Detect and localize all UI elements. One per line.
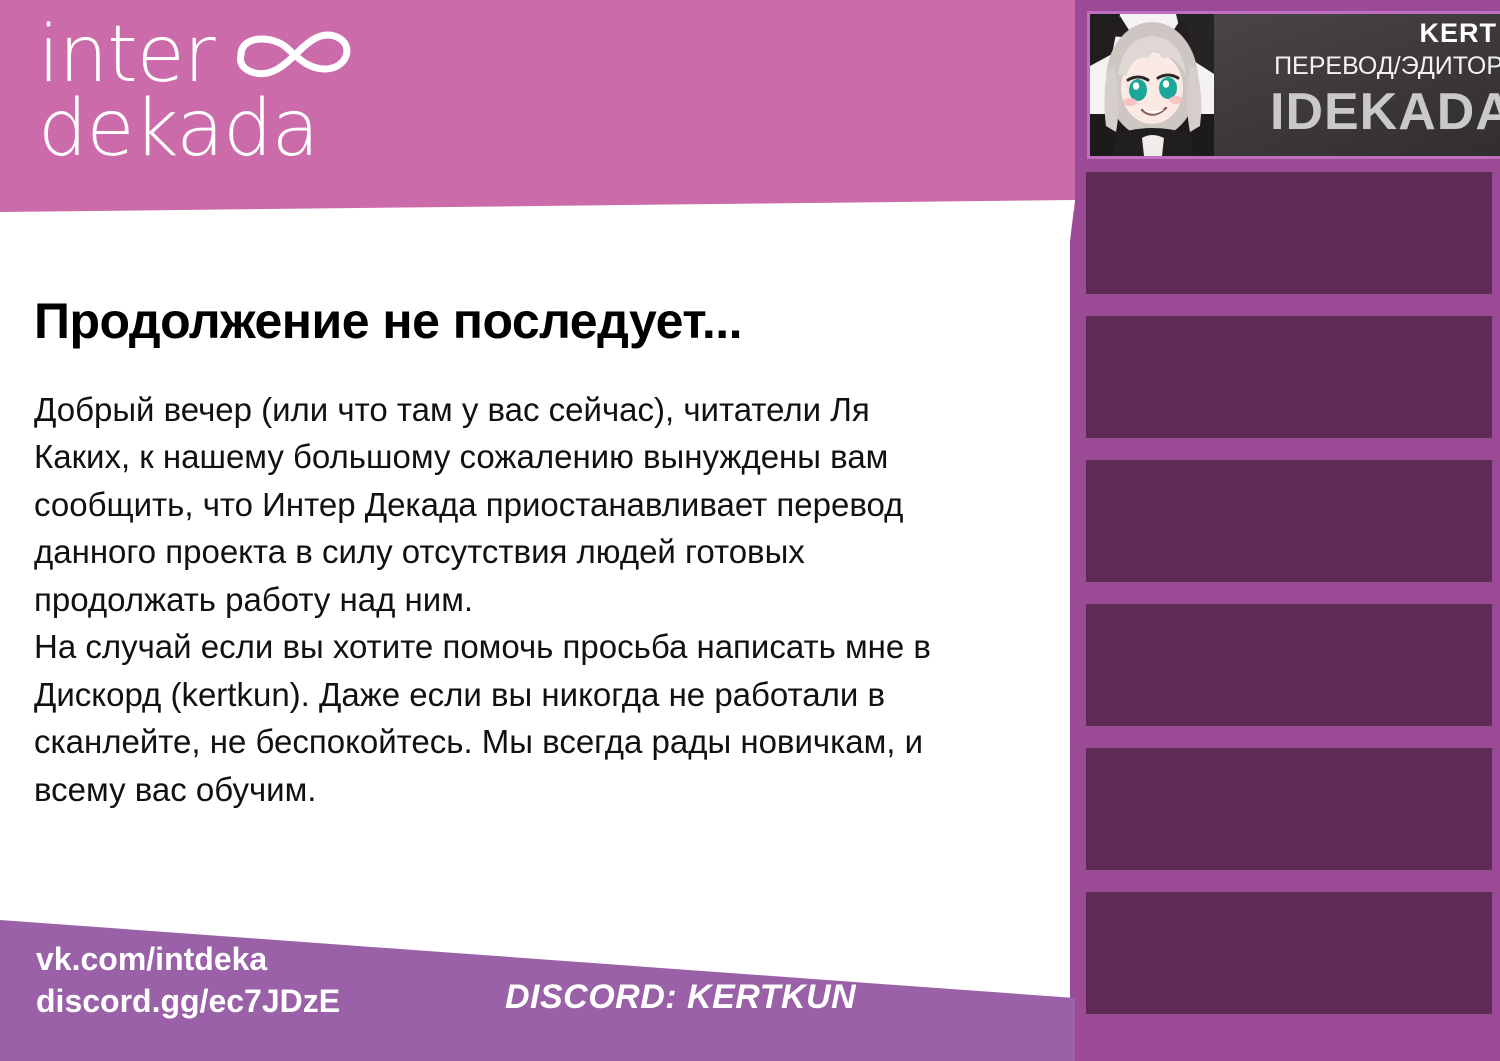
credit-banner-text: KERT ПЕРЕВОД/ЭДИТОР IDEKADA — [1214, 14, 1500, 156]
discord-invite-link[interactable]: discord.gg/ec7JDzE — [36, 980, 340, 1022]
page-title: Продолжение не последует... — [34, 295, 954, 348]
sidebar-panel — [1086, 604, 1492, 726]
discord-handle: DISCORD: KERTKUN — [505, 978, 856, 1017]
sidebar-panel — [1086, 172, 1492, 294]
announcement-body: Добрый вечер (или что там у вас сейчас),… — [34, 386, 954, 814]
content-area: Продолжение не последует... Добрый вечер… — [0, 200, 1075, 940]
credit-name: KERT — [1420, 20, 1498, 47]
brand-logo: inter dekada — [38, 18, 379, 166]
sidebar-panel — [1086, 892, 1492, 1014]
vk-link[interactable]: vk.com/intdeka — [36, 938, 340, 980]
sidebar-panel — [1086, 460, 1492, 582]
credit-banner: KERT ПЕРЕВОД/ЭДИТОР IDEKADA — [1090, 14, 1500, 156]
sidebar-panel — [1086, 748, 1492, 870]
sidebar-panel-list — [1086, 172, 1492, 1061]
body-paragraph-1: Добрый вечер (или что там у вас сейчас),… — [34, 386, 954, 624]
brand-logo-line2: dekada — [38, 92, 379, 166]
credit-role: ПЕРЕВОД/ЭДИТОР — [1274, 54, 1500, 79]
infinity-icon — [229, 21, 379, 89]
anime-girl-avatar-icon — [1090, 14, 1214, 156]
body-paragraph-2: На случай если вы хотите помочь просьба … — [34, 623, 954, 813]
footer-link-group: vk.com/intdeka discord.gg/ec7JDzE — [36, 938, 340, 1022]
credit-group: IDEKADA — [1270, 86, 1500, 138]
brand-logo-line1: inter — [38, 18, 215, 92]
sidebar-panel — [1086, 316, 1492, 438]
announcement-page: KERT ПЕРЕВОД/ЭДИТОР IDEKADA inter — [0, 0, 1500, 1061]
sidebar: KERT ПЕРЕВОД/ЭДИТОР IDEKADA — [1070, 0, 1500, 1061]
